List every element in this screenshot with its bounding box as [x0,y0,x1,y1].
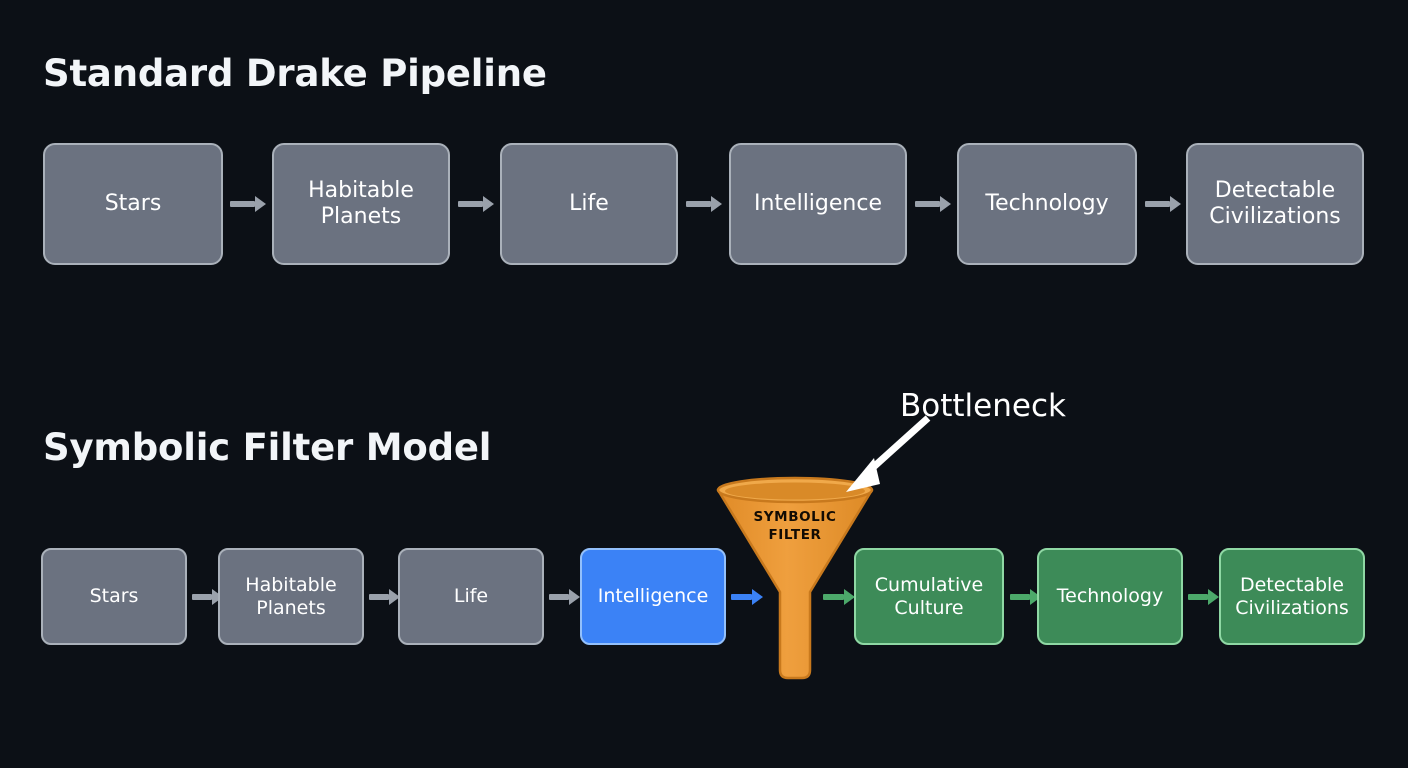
diagram-canvas: Standard Drake Pipeline Stars Habitable … [0,0,1408,768]
node-sf-habitable-planets[interactable]: Habitable Planets [218,548,364,645]
node-technology[interactable]: Technology [957,143,1137,265]
node-life[interactable]: Life [500,143,678,265]
node-sf-detectable-civilizations[interactable]: Detectable Civilizations [1219,548,1365,645]
symbolic-filter-funnel[interactable]: SYMBOLIC FILTER [710,480,880,685]
node-sf-stars[interactable]: Stars [41,548,187,645]
node-sf-technology[interactable]: Technology [1037,548,1183,645]
page-title-symbolic-filter-model: Symbolic Filter Model [43,426,491,469]
node-intelligence[interactable]: Intelligence [729,143,907,265]
funnel-icon [710,480,880,685]
node-habitable-planets[interactable]: Habitable Planets [272,143,450,265]
bottleneck-arrow-icon [820,400,950,500]
node-stars[interactable]: Stars [43,143,223,265]
node-detectable-civilizations[interactable]: Detectable Civilizations [1186,143,1364,265]
node-sf-intelligence[interactable]: Intelligence [580,548,726,645]
node-sf-life[interactable]: Life [398,548,544,645]
page-title-standard-drake-pipeline: Standard Drake Pipeline [43,52,547,95]
